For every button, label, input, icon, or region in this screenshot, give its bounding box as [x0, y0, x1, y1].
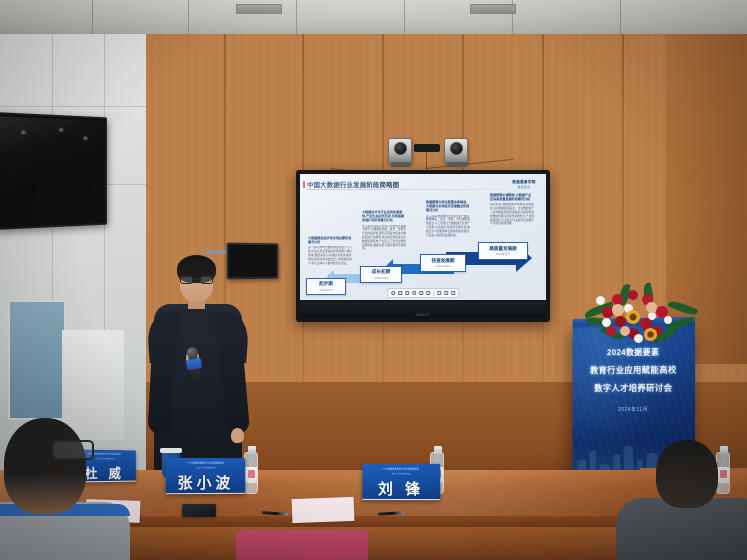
stage-name: 快速发展期 — [432, 258, 455, 264]
slide-title: 中国大数据行业发展阶段简略图 — [307, 180, 399, 189]
shape-icon[interactable] — [419, 291, 423, 295]
eraser-icon[interactable] — [412, 291, 416, 295]
slide-logo: 数据要素学院 数据要素 — [507, 179, 541, 190]
slide-column-heading: 大数据概念起步和市场启蒙阶段概况分析 — [308, 236, 352, 244]
smartphone — [182, 504, 216, 517]
presenter — [146, 250, 250, 480]
more-icon[interactable] — [451, 291, 455, 295]
highlighter-icon[interactable] — [405, 291, 409, 295]
nameplate-subtitle-2: 数字人才培养研讨会 — [197, 466, 216, 469]
display-toolbar[interactable] — [387, 288, 459, 298]
stage-name: 高质量发展期 — [489, 246, 517, 252]
paper-sheet — [292, 497, 355, 523]
stage-box-4: 高质量发展期 2021年至今 — [478, 242, 528, 260]
ceiling-vent — [470, 4, 516, 14]
nameplate-subtitle-2: 数字人才培养研讨会 — [392, 472, 411, 475]
select-icon[interactable] — [426, 291, 430, 295]
stage-years: 2017-2020 — [436, 264, 449, 268]
ceiling — [0, 0, 747, 34]
slide-column-body: 第三阶段:数据被正式列为生产要素,数据确权、定价、流通、交易规则加快建立;人工智… — [426, 215, 470, 238]
audience-eyeglasses-icon — [52, 440, 94, 460]
display-brand: SMART — [416, 313, 431, 317]
slide-column-body: 第二阶段:随着云计算与分布式计算能力提升,大数据在金融、政务、零售等行业快速渗透… — [362, 225, 406, 252]
sunflower — [626, 310, 640, 324]
slide-column-heading: 大数据技术与行业应用加速落地,产业生态初步形成,市场规模快速扩张阶段概况分析 — [362, 210, 406, 223]
stage-box-1: 起步期 2010-2013 — [306, 278, 346, 295]
left-wall-tv — [0, 112, 107, 230]
left-window-panel — [8, 300, 66, 420]
slide-column-body: 第一阶段:国内大数据概念尚处于引入期,行业应用主要集中在互联网与电信领域,数据采… — [308, 246, 352, 265]
podium-line-1: 2024数据要素 — [607, 347, 659, 359]
sunflower — [644, 328, 657, 341]
slide-column-heading: 数据要素市场化配置改革推进,大数据与实体经济深度融合阶段概况分析 — [426, 200, 470, 213]
podium-line-3: 数字人才培养研讨会 — [594, 382, 672, 394]
audience-member-right — [616, 432, 747, 560]
nameplate-zhang-xiaobo: 2024数据要素教育行业应用赋能高校 数字人才培养研讨会 张小波 — [166, 458, 245, 494]
stage-name: 成长初期 — [372, 269, 390, 275]
slide-column-body: 第四阶段:数据要素市场体系基本建成,公共数据授权运营、企业数据资产入表等制度创新… — [490, 203, 534, 226]
stage-box-3: 快速发展期 2017-2020 — [420, 254, 466, 272]
presentation-display[interactable]: 中国大数据行业发展阶段简略图 数据要素学院 数据要素 大数据概念起步和市场启蒙阶… — [296, 170, 550, 322]
stage-box-2: 成长初期 2014-2016 — [360, 266, 402, 283]
nameplate-subtitle: 2024数据要素教育行业应用赋能高校 — [188, 460, 224, 463]
slide-column-heading: 数据要素价值释放,大数据产业迈向高质量发展阶段概况分析 — [490, 193, 534, 201]
flower-arrangement — [582, 282, 700, 348]
chair-back — [236, 530, 368, 560]
slide-surface: 中国大数据行业发展阶段简略图 数据要素学院 数据要素 大数据概念起步和市场启蒙阶… — [300, 174, 546, 300]
audience-head — [4, 418, 86, 514]
eyeglasses-icon — [180, 276, 213, 284]
stage-years: 2010-2013 — [319, 288, 332, 292]
stage-name: 起步期 — [319, 281, 333, 287]
pointer-icon[interactable] — [391, 291, 395, 295]
podium-banner-text: 2024数据要素 教育行业应用赋能高校 数字人才培养研讨会 2024年11月 — [573, 346, 695, 413]
ir-sensor-bar — [414, 144, 440, 152]
stage-years: 2021年至今 — [496, 252, 511, 256]
presenter-hand-right — [231, 428, 244, 443]
audience-head — [656, 440, 718, 508]
podium-date: 2024年11月 — [618, 406, 648, 413]
audience-member-front — [0, 418, 120, 560]
presenter-arm-left — [148, 337, 177, 434]
slide-logo-sub: 数据要素 — [518, 185, 531, 189]
podium-line-2: 教育行业应用赋能高校 — [590, 364, 677, 377]
ptz-camera-left — [388, 138, 412, 164]
stage-years: 2014-2016 — [374, 276, 387, 280]
nameplate-name: 张小波 — [177, 471, 234, 492]
pen-icon[interactable] — [398, 291, 402, 295]
slide-title-rule — [306, 189, 540, 190]
nameplate-subtitle: 2024数据要素教育行业应用赋能高校 — [383, 466, 419, 469]
conference-room-photo: 中国大数据行业发展阶段简略图 数据要素学院 数据要素 大数据概念起步和市场启蒙阶… — [0, 0, 747, 560]
delete-icon[interactable] — [437, 291, 441, 295]
water-bottle — [244, 452, 258, 494]
grid-icon[interactable] — [444, 291, 448, 295]
nameplate-name: 刘 锋 — [378, 477, 424, 498]
ceiling-vent — [236, 4, 282, 14]
nameplate-liu-feng: 2024数据要素教育行业应用赋能高校 数字人才培养研讨会 刘 锋 — [362, 464, 440, 500]
ptz-camera-right — [444, 138, 468, 164]
